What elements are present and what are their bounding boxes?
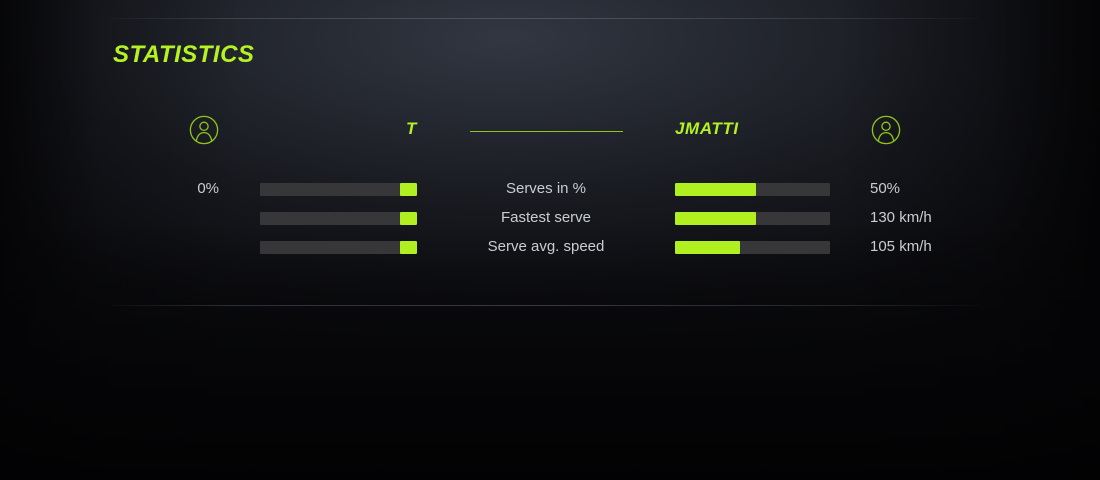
player-name-left[interactable]: T: [327, 119, 417, 139]
stat-bar-right-fill: [675, 183, 756, 196]
stat-bar-right-fill: [675, 241, 740, 254]
table-row: Fastest serve 130 km/h: [113, 208, 979, 237]
stat-value-right: 50%: [870, 180, 900, 197]
stat-bar-right-fill: [675, 212, 756, 225]
page-title: STATISTICS: [113, 41, 254, 69]
header-accent-line: [470, 131, 623, 132]
stat-bar-left: [260, 183, 417, 196]
avatar-left-player[interactable]: [189, 115, 219, 145]
stat-value-right: 105 km/h: [870, 238, 932, 255]
avatar-right-player[interactable]: [871, 115, 901, 145]
user-circle-icon: [189, 115, 219, 145]
divider-bottom: [113, 305, 979, 306]
stat-bar-right: [675, 241, 830, 254]
players-header: T JMATTI: [113, 112, 979, 148]
stat-bar-left-fill: [400, 241, 417, 254]
stat-label: Serves in %: [426, 180, 666, 197]
stat-value-left: 0%: [129, 180, 219, 197]
stat-label: Fastest serve: [426, 209, 666, 226]
user-circle-icon: [871, 115, 901, 145]
stats-list: 0% Serves in % 50% Fastest serve 130 km/…: [113, 179, 979, 266]
player-name-right[interactable]: JMATTI: [675, 119, 739, 139]
stat-bar-left-fill: [400, 212, 417, 225]
stat-bar-right: [675, 212, 830, 225]
stat-bar-left-fill: [400, 183, 417, 196]
stat-label: Serve avg. speed: [426, 238, 666, 255]
stat-bar-left: [260, 212, 417, 225]
table-row: 0% Serves in % 50%: [113, 179, 979, 208]
stat-value-right: 130 km/h: [870, 209, 932, 226]
divider-top: [113, 18, 979, 19]
stat-bar-left: [260, 241, 417, 254]
statistics-panel: STATISTICS T JMATTI 0% Serv: [113, 0, 979, 480]
table-row: Serve avg. speed 105 km/h: [113, 237, 979, 266]
stat-bar-right: [675, 183, 830, 196]
